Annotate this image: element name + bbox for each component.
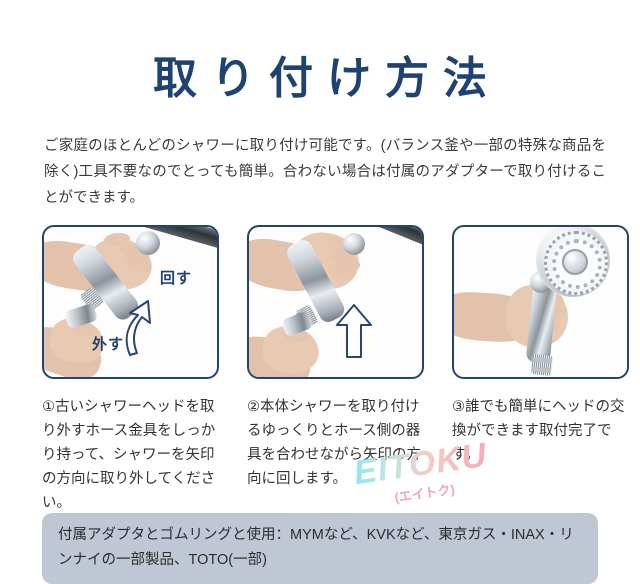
page-title: 取り付け方法 <box>0 29 640 103</box>
step-3-photo <box>452 225 629 379</box>
wand-ball-joint <box>136 231 160 255</box>
step-2-caption: ②本体シャワーを取り付けるゆっくりとホース側の器具を合わせながら矢印の方向に回し… <box>247 395 424 491</box>
intro-paragraph: ご家庭のほとんどのシャワーに取り付け可能です。(バランス釜や一部の特殊な商品を除… <box>44 133 606 211</box>
label-turn: 回す <box>160 267 192 288</box>
wand-ball-joint <box>343 233 365 255</box>
compatibility-banner: 付属アダプタとゴムリングと使用：MYMなど、KVKなど、東京ガス・INAX・リン… <box>42 513 598 584</box>
steps-row: 回す 外す ①古いシャワーヘッドを取り外すホース金具をしっかり持って、シャワーを… <box>42 225 618 530</box>
up-arrow-icon <box>331 301 377 359</box>
step-3-column: ③誰でも簡単にヘッドの交換ができます取付完了です。 <box>452 225 629 530</box>
step-2-photo <box>247 225 424 379</box>
compatibility-text: 付属アダプタとゴムリングと使用：MYMなど、KVKなど、東京ガス・INAX・リン… <box>58 527 574 568</box>
step-3-caption: ③誰でも簡単にヘッドの交換ができます取付完了です。 <box>452 395 629 467</box>
step-1-caption: ①古いシャワーヘッドを取り外すホース金具をしっかり持って、シャワーを矢印の方向に… <box>42 395 219 515</box>
instruction-page: 取り付け方法 ご家庭のほとんどのシャワーに取り付け可能です。(バランス釜や一部の… <box>0 29 640 575</box>
wand-bottom-end <box>531 354 553 376</box>
step-1-photo: 回す 外す <box>42 225 219 379</box>
rotate-arrow-icon <box>118 297 166 357</box>
step-2-column: ②本体シャワーを取り付けるゆっくりとホース側の器具を合わせながら矢印の方向に回し… <box>247 225 424 530</box>
step-1-column: 回す 外す ①古いシャワーヘッドを取り外すホース金具をしっかり持って、シャワーを… <box>42 225 219 530</box>
